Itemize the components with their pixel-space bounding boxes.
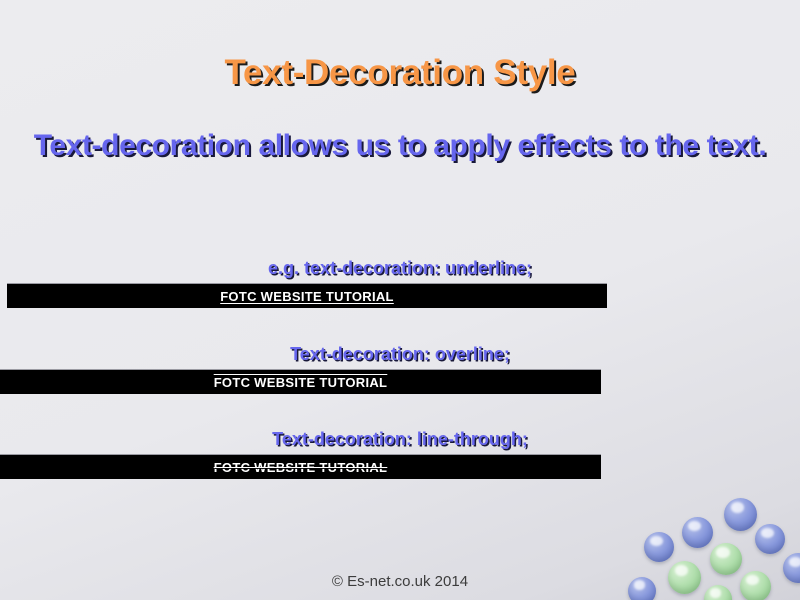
copyright-footer: © Es-net.co.uk 2014 [0,573,800,590]
example-line-through: Text-decoration: line-through; FOTC WEBS… [0,429,800,479]
example-line-through-label: Text-decoration: line-through; [0,429,800,450]
example-line-through-sample-text: FOTC WEBSITE TUTORIAL [0,455,601,479]
example-underline-sample-text: FOTC WEBSITE TUTORIAL [7,284,607,308]
example-underline: e.g. text-decoration: underline; FOTC WE… [0,258,800,308]
example-underline-bar: FOTC WEBSITE TUTORIAL [7,283,607,308]
page-title: Text-Decoration Style [0,53,800,93]
slide-subtitle: Text-decoration allows us to apply effec… [8,124,792,167]
slide-canvas: Text-Decoration Style Text-decoration al… [0,0,800,600]
example-line-through-bar: FOTC WEBSITE TUTORIAL [0,454,601,479]
example-overline: Text-decoration: overline; FOTC WEBSITE … [0,344,800,394]
bubble-blue-4-icon [644,532,674,562]
example-underline-label: e.g. text-decoration: underline; [0,258,800,279]
example-overline-bar: FOTC WEBSITE TUTORIAL [0,369,601,394]
bubble-blue-3-icon [755,524,785,554]
bubble-blue-1-icon [724,498,757,531]
example-overline-label: Text-decoration: overline; [0,344,800,365]
bubble-green-1-icon [710,543,742,575]
example-overline-sample-text: FOTC WEBSITE TUTORIAL [0,370,601,394]
bubble-blue-2-icon [682,517,713,548]
